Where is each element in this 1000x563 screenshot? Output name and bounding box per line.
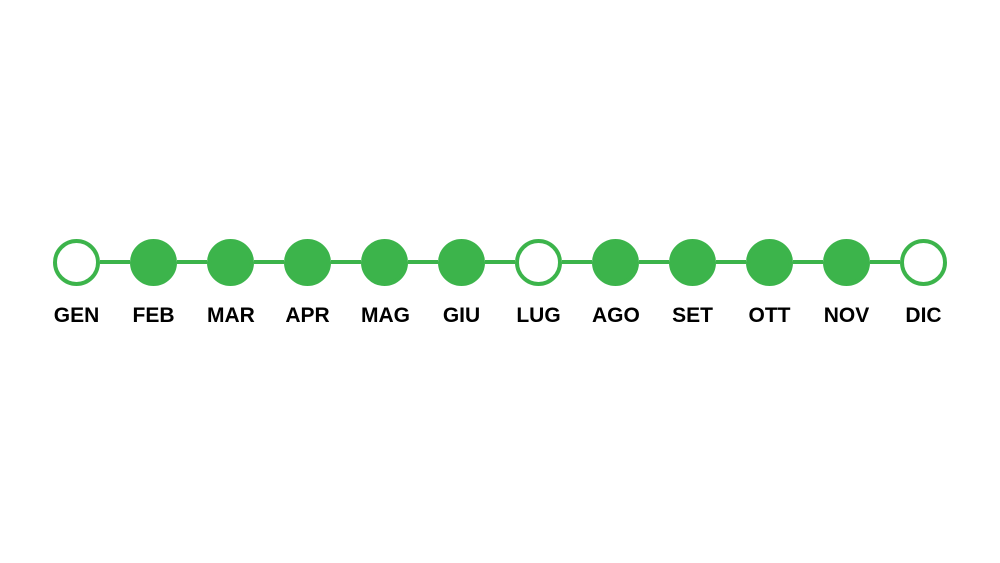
timeline-node-nov[interactable] [823,239,870,286]
timeline-label-dic: DIC [900,303,947,329]
timeline-node-lug[interactable] [515,239,562,286]
timeline-node-dic[interactable] [900,239,947,286]
timeline-label-giu: GIU [438,303,485,329]
timeline-label-row: GEN FEB MAR APR MAG GIU LUG AGO SET OTT … [0,303,1000,337]
timeline-track [0,238,1000,286]
timeline-connector-nov-dic [870,260,900,264]
timeline-connector-mag-giu [408,260,438,264]
timeline-label-set: SET [669,303,716,329]
timeline-connector-feb-mar [177,260,207,264]
timeline-node-gen[interactable] [53,239,100,286]
timeline-connector-lug-ago [562,260,592,264]
timeline-label-apr: APR [284,303,331,329]
timeline-label-nov: NOV [823,303,870,329]
timeline-node-apr[interactable] [284,239,331,286]
timeline-connector-ago-set [639,260,669,264]
timeline-label-ago: AGO [592,303,639,329]
timeline-label-gen: GEN [53,303,100,329]
timeline-node-set[interactable] [669,239,716,286]
timeline-label-feb: FEB [130,303,177,329]
timeline-label-lug: LUG [515,303,562,329]
timeline-label-ott: OTT [746,303,793,329]
timeline-connector-giu-lug [485,260,515,264]
timeline-connector-set-ott [716,260,746,264]
timeline-connector-apr-mag [331,260,361,264]
timeline-node-giu[interactable] [438,239,485,286]
timeline-node-ago[interactable] [592,239,639,286]
timeline-node-mag[interactable] [361,239,408,286]
timeline-node-ott[interactable] [746,239,793,286]
month-timeline-widget: GEN FEB MAR APR MAG GIU LUG AGO SET OTT … [0,0,1000,563]
timeline-connector-ott-nov [793,260,823,264]
timeline-label-mar: MAR [207,303,254,329]
timeline-connector-gen-feb [100,260,130,264]
timeline-node-feb[interactable] [130,239,177,286]
timeline-node-mar[interactable] [207,239,254,286]
timeline-connector-mar-apr [254,260,284,264]
timeline-label-mag: MAG [361,303,408,329]
